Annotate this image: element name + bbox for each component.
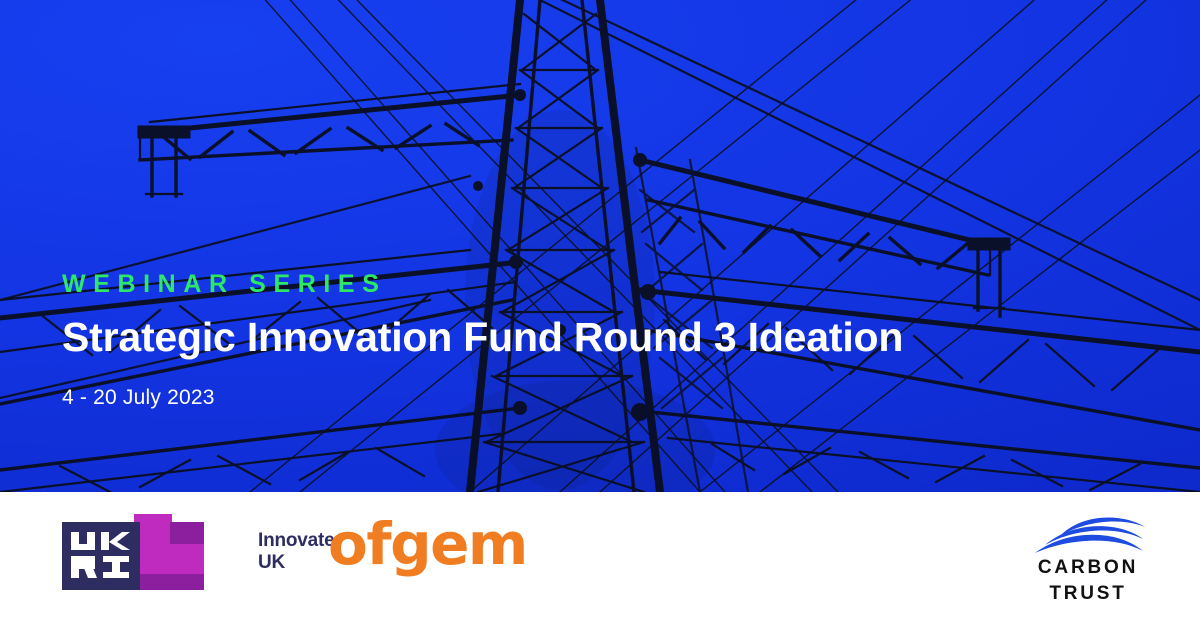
ofgem-wordmark: ofgem bbox=[328, 515, 527, 573]
carbon-trust-line-2: TRUST bbox=[1018, 581, 1158, 607]
innovate-uk-line-1: Innovate bbox=[258, 530, 335, 552]
carbon-trust-line-1: CARBON bbox=[1018, 555, 1158, 581]
hero-text-block: WEBINAR SERIES Strategic Innovation Fund… bbox=[62, 272, 1062, 408]
carbon-trust-wordmark: CARBON TRUST bbox=[1018, 555, 1158, 606]
footer-logo-bar: Innovate UK ofgem CARBON TRUST bbox=[0, 492, 1200, 627]
date-range-label: 4 - 20 July 2023 bbox=[62, 387, 1062, 408]
page-title: Strategic Innovation Fund Round 3 Ideati… bbox=[62, 315, 1062, 359]
carbon-trust-arcs-icon bbox=[1023, 511, 1153, 553]
innovate-uk-line-2: UK bbox=[258, 552, 335, 574]
pylon-silhouette-image: .st { stroke:#0A1029; fill:none; stroke-… bbox=[0, 0, 1200, 492]
ukri-innovate-uk-logo: Innovate UK bbox=[62, 512, 335, 592]
innovate-uk-wordmark: Innovate UK bbox=[258, 530, 335, 575]
eyebrow-label: WEBINAR SERIES bbox=[62, 272, 1062, 297]
ukri-mark-icon bbox=[62, 512, 242, 592]
webinar-banner: .st { stroke:#0A1029; fill:none; stroke-… bbox=[0, 0, 1200, 627]
ofgem-logo: ofgem bbox=[328, 515, 527, 573]
carbon-trust-logo: CARBON TRUST bbox=[1018, 511, 1158, 606]
hero-section: .st { stroke:#0A1029; fill:none; stroke-… bbox=[0, 0, 1200, 492]
